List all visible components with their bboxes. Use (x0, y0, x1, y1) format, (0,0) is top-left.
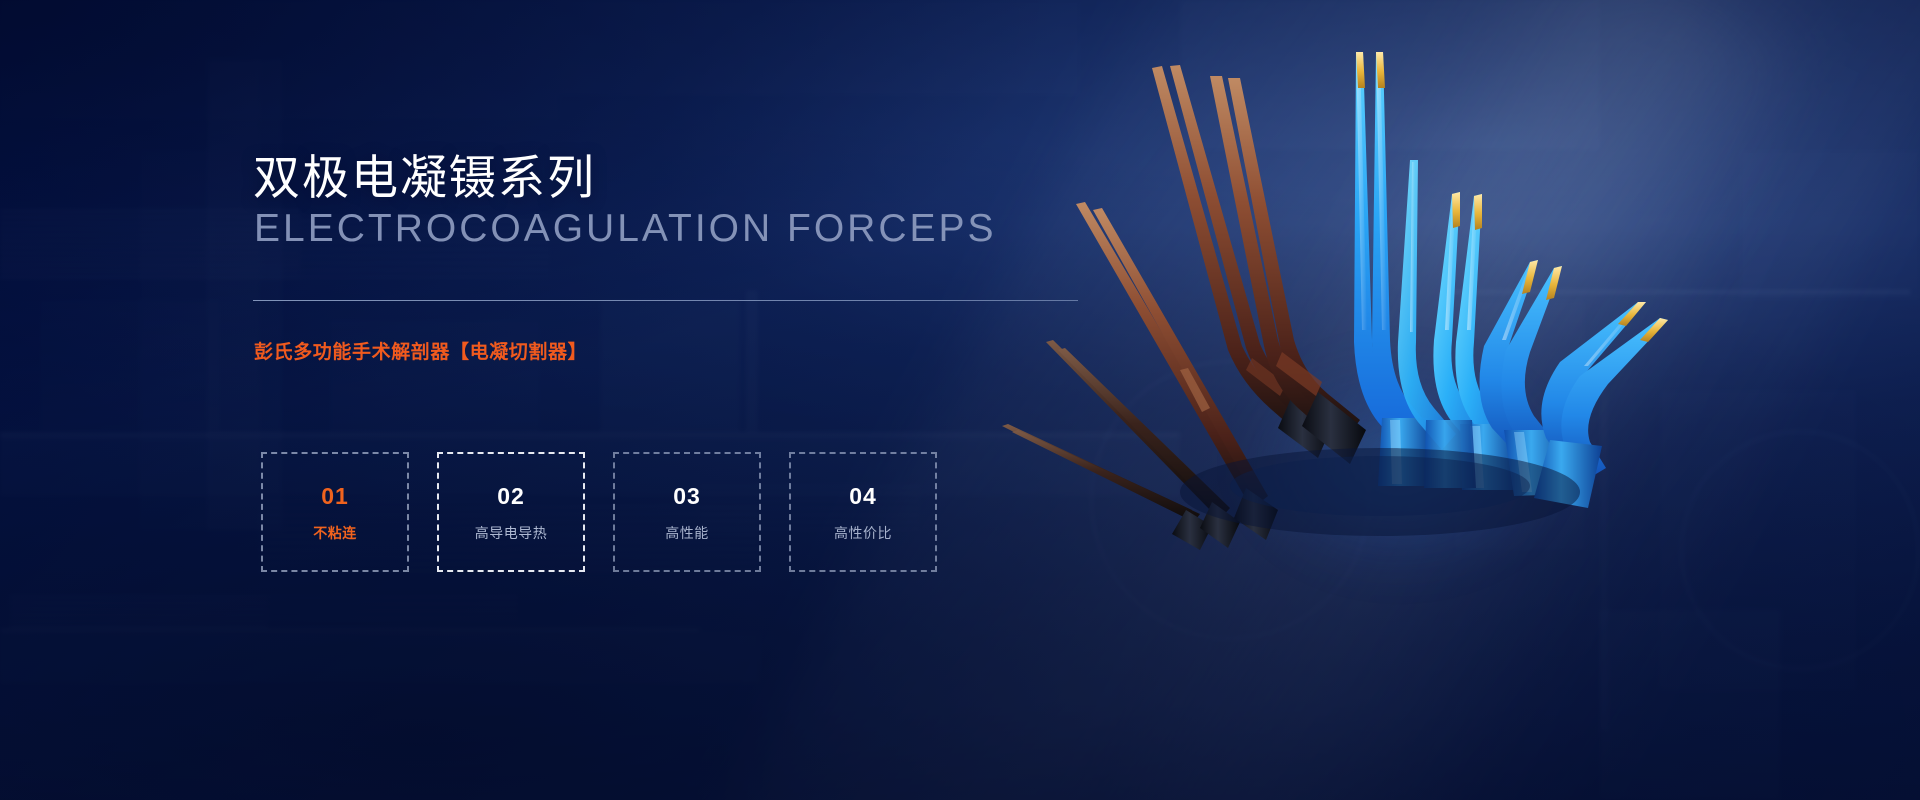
feature-card-04[interactable]: 04 高性价比 (789, 452, 937, 572)
feature-list: 01 不粘连 02 高导电导热 03 高性能 04 高性价比 (261, 452, 937, 572)
feature-label: 高性能 (665, 526, 709, 540)
title-divider (253, 300, 1078, 301)
product-name-label: 彭氏多功能手术解剖器【电凝切割器】 (254, 337, 587, 364)
feature-label: 高性价比 (834, 526, 892, 540)
feature-label: 不粘连 (313, 526, 357, 540)
feature-card-02[interactable]: 02 高导电导热 (437, 452, 585, 572)
feature-card-01[interactable]: 01 不粘连 (261, 452, 409, 572)
feature-number: 04 (849, 485, 877, 508)
page-subtitle-english: ELECTROCOAGULATION FORCEPS (254, 207, 997, 251)
feature-number: 03 (673, 485, 701, 508)
feature-number: 02 (497, 485, 525, 508)
feature-label: 高导电导热 (475, 526, 548, 540)
feature-card-03[interactable]: 03 高性能 (613, 452, 761, 572)
forceps-product-image (1060, 40, 1680, 620)
product-banner: 双极电凝镊系列 ELECTROCOAGULATION FORCEPS 彭氏多功能… (0, 0, 1920, 800)
page-title: 双极电凝镊系列 (253, 139, 596, 208)
feature-number: 01 (321, 485, 349, 508)
banner-content: 双极电凝镊系列 ELECTROCOAGULATION FORCEPS 彭氏多功能… (253, 0, 1153, 800)
